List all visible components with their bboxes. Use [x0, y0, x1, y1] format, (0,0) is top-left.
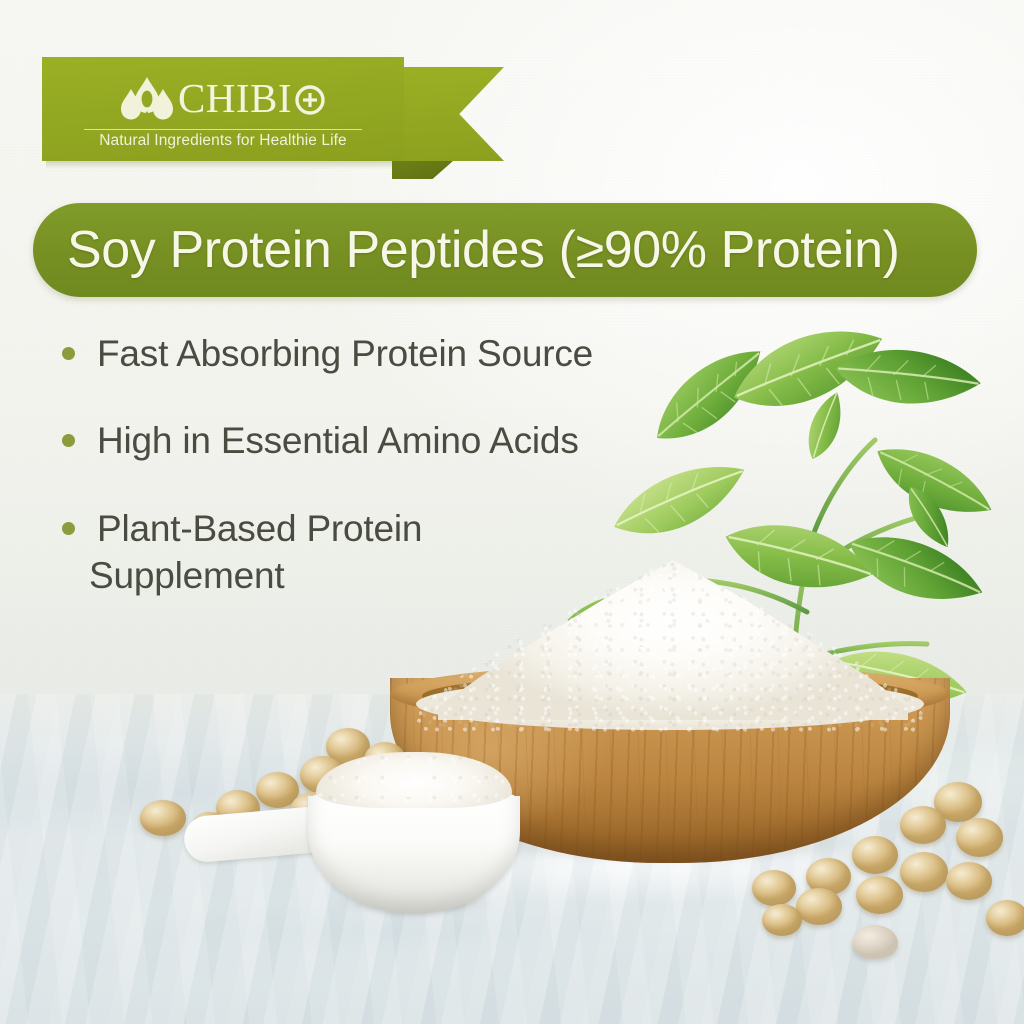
- oplus-icon: [293, 82, 327, 116]
- white-ceramic-measuring-spoon: [180, 770, 540, 920]
- brand-wordmark-text: CHIBI: [178, 78, 292, 119]
- feature-text: Fast Absorbing Protein Source: [97, 330, 593, 377]
- ribbon-tail: [392, 67, 504, 161]
- logo-content: CHIBI Natural Ingredients for Healthie L…: [42, 57, 404, 161]
- soybean: [762, 904, 802, 936]
- soybean: [900, 806, 946, 844]
- feature-text-line1: Plant-Based Protein: [97, 508, 422, 549]
- feature-text-line2: Supplement: [89, 552, 422, 599]
- product-banner-canvas: CHIBI Natural Ingredients for Healthie L…: [0, 0, 1024, 1024]
- feature-text: High in Essential Amino Acids: [97, 417, 579, 464]
- soybean: [946, 862, 992, 900]
- three-droplet-leaf-icon: [119, 75, 175, 123]
- logo-divider: [84, 129, 362, 130]
- list-item: High in Essential Amino Acids: [62, 417, 682, 464]
- soybean: [856, 876, 903, 914]
- brand-wordmark: CHIBI: [178, 78, 327, 119]
- list-item: Plant-Based Protein Supplement: [62, 505, 682, 600]
- soybean: [796, 888, 842, 925]
- feature-text: Plant-Based Protein Supplement: [97, 505, 422, 600]
- brand-tagline: Natural Ingredients for Healthie Life: [99, 132, 347, 150]
- brand-logo-ribbon[interactable]: CHIBI Natural Ingredients for Healthie L…: [42, 57, 460, 161]
- soybean: [986, 900, 1024, 936]
- bullet-dot-icon: [62, 434, 75, 447]
- feature-list: Fast Absorbing Protein Source High in Es…: [62, 330, 682, 639]
- logo-lockup: CHIBI: [119, 72, 327, 126]
- bullet-dot-icon: [62, 522, 75, 535]
- soybean: [956, 818, 1003, 857]
- list-item: Fast Absorbing Protein Source: [62, 330, 682, 377]
- soybean: [752, 870, 796, 906]
- soybean: [852, 836, 898, 874]
- soybean: [900, 852, 948, 892]
- headline-pill: Soy Protein Peptides (≥90% Protein): [33, 203, 977, 297]
- headline-text: Soy Protein Peptides (≥90% Protein): [33, 220, 900, 280]
- small-stone: [852, 925, 898, 959]
- bullet-dot-icon: [62, 347, 75, 360]
